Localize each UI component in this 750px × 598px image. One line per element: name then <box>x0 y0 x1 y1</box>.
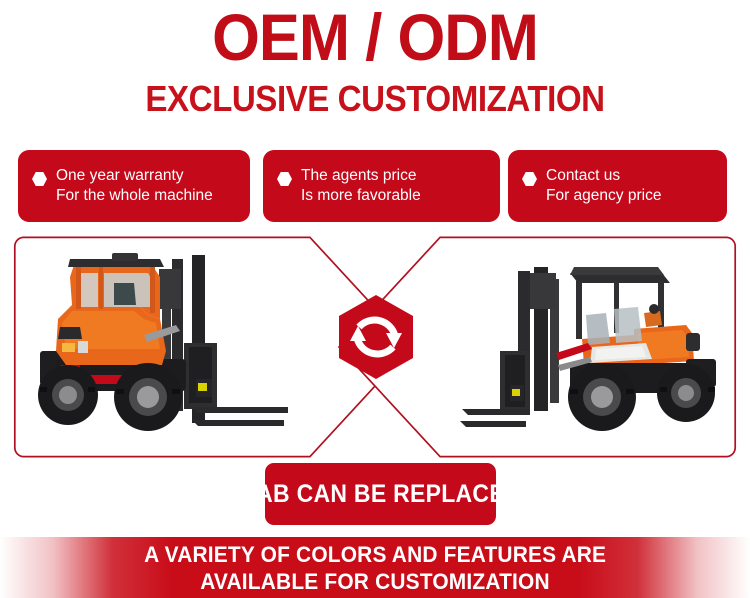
hexagon-bullet-icon <box>32 172 47 187</box>
product-photo-right <box>426 236 736 458</box>
page-title: OEM / ODM <box>26 4 724 70</box>
feature-badge-list: One year warranty For the whole machine … <box>0 150 750 222</box>
feature-badge-agent-price[interactable]: The agents price Is more favorable <box>263 150 500 222</box>
hexagon-bullet-icon <box>522 172 537 187</box>
page-subtitle: EXCLUSIVE CUSTOMIZATION <box>30 80 720 118</box>
feature-badge-line1: The agents price <box>301 167 416 184</box>
swap-hexagon[interactable] <box>339 295 413 379</box>
feature-badge-warranty[interactable]: One year warranty For the whole machine <box>18 150 250 222</box>
feature-badge-contact-us[interactable]: Contact us For agency price <box>508 150 727 222</box>
bottom-banner-line1: A VARIETY OF COLORS AND FEATURES ARE <box>144 541 606 568</box>
hexagon-bullet-icon <box>277 172 292 187</box>
feature-badge-line1: Contact us <box>546 167 620 184</box>
refresh-swap-icon <box>339 295 413 379</box>
feature-badge-text: The agents price Is more favorable <box>301 166 421 206</box>
bottom-banner: A VARIETY OF COLORS AND FEATURES ARE AVA… <box>0 537 750 598</box>
feature-badge-text: One year warranty For the whole machine <box>56 166 213 206</box>
cab-button-label: CAB CAN BE REPLACED <box>239 480 522 509</box>
promo-banner: OEM / ODM EXCLUSIVE CUSTOMIZATION One ye… <box>0 0 750 598</box>
bottom-banner-line2: AVAILABLE FOR CUSTOMIZATION <box>200 568 550 595</box>
feature-badge-line2: For agency price <box>546 186 661 206</box>
header: OEM / ODM EXCLUSIVE CUSTOMIZATION <box>0 0 750 130</box>
product-photo-left <box>14 236 324 458</box>
feature-badge-line1: One year warranty <box>56 167 184 184</box>
cab-can-be-replaced-button[interactable]: CAB CAN BE REPLACED <box>265 463 496 525</box>
feature-badge-text: Contact us For agency price <box>546 166 661 206</box>
feature-badge-line2: Is more favorable <box>301 186 421 206</box>
feature-badge-line2: For the whole machine <box>56 186 213 206</box>
